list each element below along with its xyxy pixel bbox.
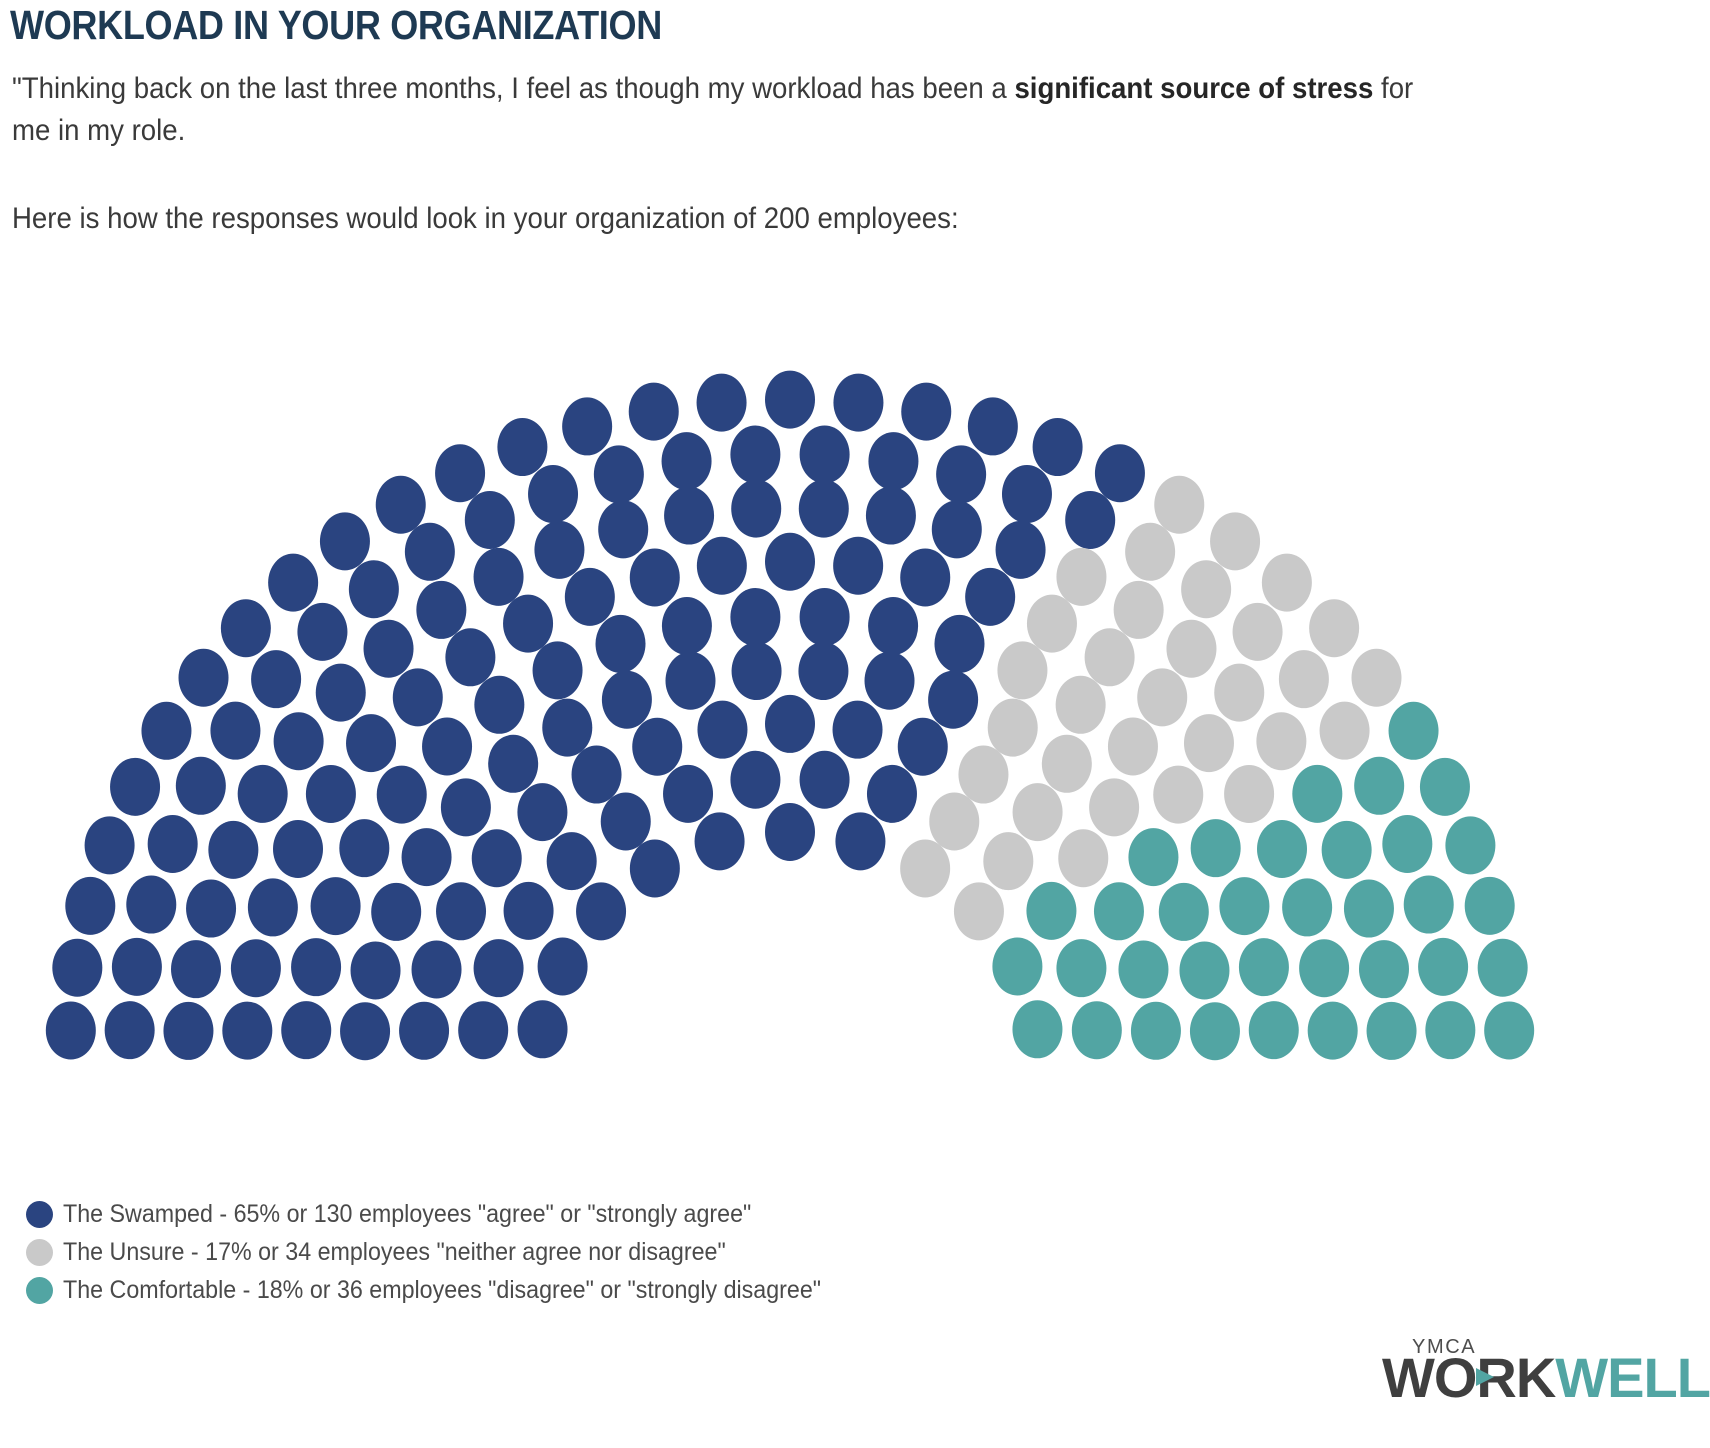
employee-dot [1033,418,1083,476]
employee-dot [1344,880,1394,938]
employee-dot [1118,940,1168,998]
logo-play-triangle-icon [1468,1364,1498,1394]
employee-dot [1125,523,1175,581]
employee-dot [1137,668,1187,726]
employee-dot [208,821,258,879]
employee-dot [1308,1002,1358,1060]
employee-dot [1089,778,1139,836]
employee-dot [65,877,115,935]
employee-dot [1013,783,1063,841]
employee-dot [866,487,916,545]
employee-dot [1114,581,1164,639]
employee-dot [1181,560,1231,618]
employee-dot [320,512,370,570]
employee-dot [52,939,102,997]
employee-dot [297,603,347,661]
employee-dot [833,374,883,432]
employee-dot [518,1000,568,1058]
employee-dot [1190,1002,1240,1060]
employee-dot [281,1001,331,1059]
employee-dot [663,765,713,823]
employee-dot [835,812,885,870]
employee-dot [377,766,427,824]
legend-item-swamped: The Swamped - 65% or 130 employees "agre… [26,1196,1226,1232]
employee-dot [596,615,646,673]
employee-dot [934,615,984,673]
employee-dot [186,880,236,938]
employee-dot [1404,876,1454,934]
employee-dot [730,751,780,809]
dot-chart-svg [0,272,1710,1072]
employee-dot [105,1001,155,1059]
employee-dot [416,581,466,639]
chart-legend: The Swamped - 65% or 130 employees "agre… [26,1196,1226,1310]
employee-dot [1154,476,1204,534]
employee-dot [273,820,323,878]
employee-dot [222,1002,272,1060]
employee-dot [1420,758,1470,816]
employee-dot [1065,491,1115,549]
legend-label-unsure: The Unsure - 17% or 34 employees "neithe… [63,1238,726,1267]
employee-dot [730,588,780,646]
employee-dot [1445,816,1495,874]
employee-dot [163,1002,213,1060]
employee-dot [954,882,1004,940]
employee-dot [898,718,948,776]
employee-dot [1095,444,1145,502]
employee-dot [1299,939,1349,997]
employee-dot [572,746,622,804]
employee-dot [412,940,462,998]
employee-dot [311,877,361,935]
employee-dot [1026,882,1076,940]
employee-dot [1224,765,1274,823]
employee-dot [1159,883,1209,941]
employee-dot [316,664,366,722]
employee-dot [1382,815,1432,873]
employee-dot [1279,650,1329,708]
employee-dot [238,765,288,823]
employee-dot [126,876,176,934]
employee-dot [576,882,626,940]
employee-dot [868,432,918,490]
employee-dot [1367,1002,1417,1060]
employee-dot [565,568,615,626]
logo-workwell-text: WORKWELL [1382,1350,1710,1406]
employee-dot [405,523,455,581]
employee-dot [1322,821,1372,879]
employee-dot [210,702,260,760]
employee-dot [1128,828,1178,886]
employee-dot [1012,1000,1062,1058]
employee-dot [1027,595,1077,653]
page-title: WORKLOAD IN YOUR ORGANIZATION [10,2,662,49]
employee-dot [1418,938,1468,996]
employee-dot [662,597,712,655]
employee-dot [1094,882,1144,940]
employee-dot [1153,766,1203,824]
employee-dot [928,671,978,729]
employee-dot [601,792,651,850]
employee-dot [504,882,554,940]
employee-dot [1056,676,1106,734]
employee-dot [765,533,815,591]
employee-dot [1292,765,1342,823]
employee-dot [1219,877,1269,935]
employee-dot [632,718,682,776]
survey-quote: "Thinking back on the last three months,… [12,68,1429,152]
employee-dot [594,445,644,503]
employee-dot [1072,1001,1122,1059]
employee-dot [800,425,850,483]
employee-dot [965,568,1015,626]
employee-dot [868,597,918,655]
employee-dot [765,803,815,861]
employee-dot [547,832,597,890]
employee-dot [534,521,584,579]
employee-dot [221,599,271,657]
employee-dot [533,641,583,699]
employee-dot [1282,878,1332,936]
employee-dot [1131,1002,1181,1060]
employee-dot [1002,465,1052,523]
employee-dot [997,641,1047,699]
employee-dot [929,792,979,850]
employee-dot [46,1001,96,1059]
employee-dot [340,1002,390,1060]
employee-dot [1233,603,1283,661]
legend-label-comfortable: The Comfortable - 18% or 36 employees "d… [63,1276,821,1305]
ymca-workwell-logo: YMCA WORKWELL [1382,1334,1682,1426]
employee-dot [497,418,547,476]
employee-dot [1179,941,1229,999]
employee-dot [697,701,747,759]
employee-dot [800,588,850,646]
employee-dot [474,676,524,734]
logo-word-well: WELL [1555,1346,1710,1409]
employee-dot [85,816,135,874]
employee-dot [1478,939,1528,997]
legend-swatch-comfortable [26,1277,53,1304]
employee-dot [799,480,849,538]
employee-dot [1484,1001,1534,1059]
employee-dot [798,642,848,700]
chart-lede: Here is how the responses would look in … [12,198,1429,240]
employee-dot [274,712,324,770]
employee-dot [248,878,298,936]
employee-dot [1465,877,1515,935]
employee-dot [376,476,426,534]
employee-dot [665,652,715,710]
employee-dot [602,671,652,729]
employee-dot [900,548,950,606]
employee-dot [983,832,1033,890]
employee-dot [458,1001,508,1059]
employee-dot [1184,714,1234,772]
employee-dot [268,554,318,612]
employee-dot [800,751,850,809]
infographic-page: WORKLOAD IN YOUR ORGANIZATION "Thinking … [0,0,1710,1448]
employee-dot [1309,599,1359,657]
employee-dot [231,939,281,997]
employee-dot [988,699,1038,757]
employee-dot [112,938,162,996]
employee-dot [441,778,491,836]
legend-swatch-unsure [26,1239,53,1266]
employee-dot [1056,939,1106,997]
employee-dot [730,425,780,483]
employee-dot [422,717,472,775]
employee-dot [474,939,524,997]
employee-dot [1239,938,1289,996]
employee-dot [528,465,578,523]
employee-dot [968,397,1018,455]
employee-dot [339,819,389,877]
employee-dot [364,620,414,678]
employee-dot [697,374,747,432]
employee-dot [503,595,553,653]
employee-dot [932,500,982,558]
employee-dot [176,757,226,815]
employee-dot [1354,757,1404,815]
legend-swatch-swamped [26,1201,53,1228]
employee-dot [351,941,401,999]
employee-dot [445,628,495,686]
employee-dot [865,652,915,710]
quote-text-lead: "Thinking back on the last three months,… [12,72,1014,105]
employee-dot [291,938,341,996]
employee-dot [488,735,538,793]
employee-dot [833,537,883,595]
employee-dot [349,560,399,618]
employee-dot [1425,1001,1475,1059]
employee-dot [731,480,781,538]
employee-dot [1389,702,1439,760]
employee-dot [732,642,782,700]
employee-dot [1262,554,1312,612]
employee-dot [996,521,1046,579]
legend-item-comfortable: The Comfortable - 18% or 36 employees "d… [26,1272,1226,1308]
employee-dot [992,937,1042,995]
employee-dot [148,815,198,873]
quote-emphasis: significant source of stress [1014,72,1373,105]
employee-dot [371,883,421,941]
employee-dot [1191,819,1241,877]
employee-dot [1249,1001,1299,1059]
employee-dot [436,882,486,940]
employee-dot [936,445,986,503]
employee-dot [900,840,950,898]
employee-dot [1108,717,1158,775]
employee-dot [171,940,221,998]
employee-dot [630,548,680,606]
employee-dot [474,548,524,606]
employee-dot [664,487,714,545]
employee-dot [1166,620,1216,678]
employee-dot [538,937,588,995]
parliament-dot-chart [0,272,1710,1072]
employee-dot [1056,548,1106,606]
employee-dot [901,383,951,441]
employee-dot [765,371,815,429]
employee-dot [1351,649,1401,707]
employee-dot [393,668,443,726]
employee-dot [402,828,452,886]
employee-dot [399,1002,449,1060]
legend-label-swamped: The Swamped - 65% or 130 employees "agre… [63,1200,751,1229]
employee-dot [542,699,592,757]
employee-dot [465,491,515,549]
employee-dot [765,695,815,753]
employee-dot [346,714,396,772]
employee-dot [1257,820,1307,878]
employee-dot [867,765,917,823]
employee-dot [1058,829,1108,887]
employee-dot [141,702,191,760]
employee-dot [251,650,301,708]
employee-dot [1210,512,1260,570]
employee-dot [435,444,485,502]
employee-dot [629,383,679,441]
employee-dot [179,649,229,707]
employee-dot [662,432,712,490]
employee-dot [1085,628,1135,686]
employee-dot [630,840,680,898]
employee-dot [833,701,883,759]
employee-dot [958,746,1008,804]
employee-dot [1214,664,1264,722]
employee-dot [562,397,612,455]
employee-dot [598,500,648,558]
employee-dot [1320,702,1370,760]
employee-dot [472,829,522,887]
legend-item-unsure: The Unsure - 17% or 34 employees "neithe… [26,1234,1226,1270]
employee-dot [1256,712,1306,770]
employee-dot [1359,940,1409,998]
employee-dot [110,758,160,816]
employee-dot [1042,735,1092,793]
employee-dot [697,537,747,595]
employee-dot [517,783,567,841]
employee-dot [695,812,745,870]
employee-dot [306,765,356,823]
